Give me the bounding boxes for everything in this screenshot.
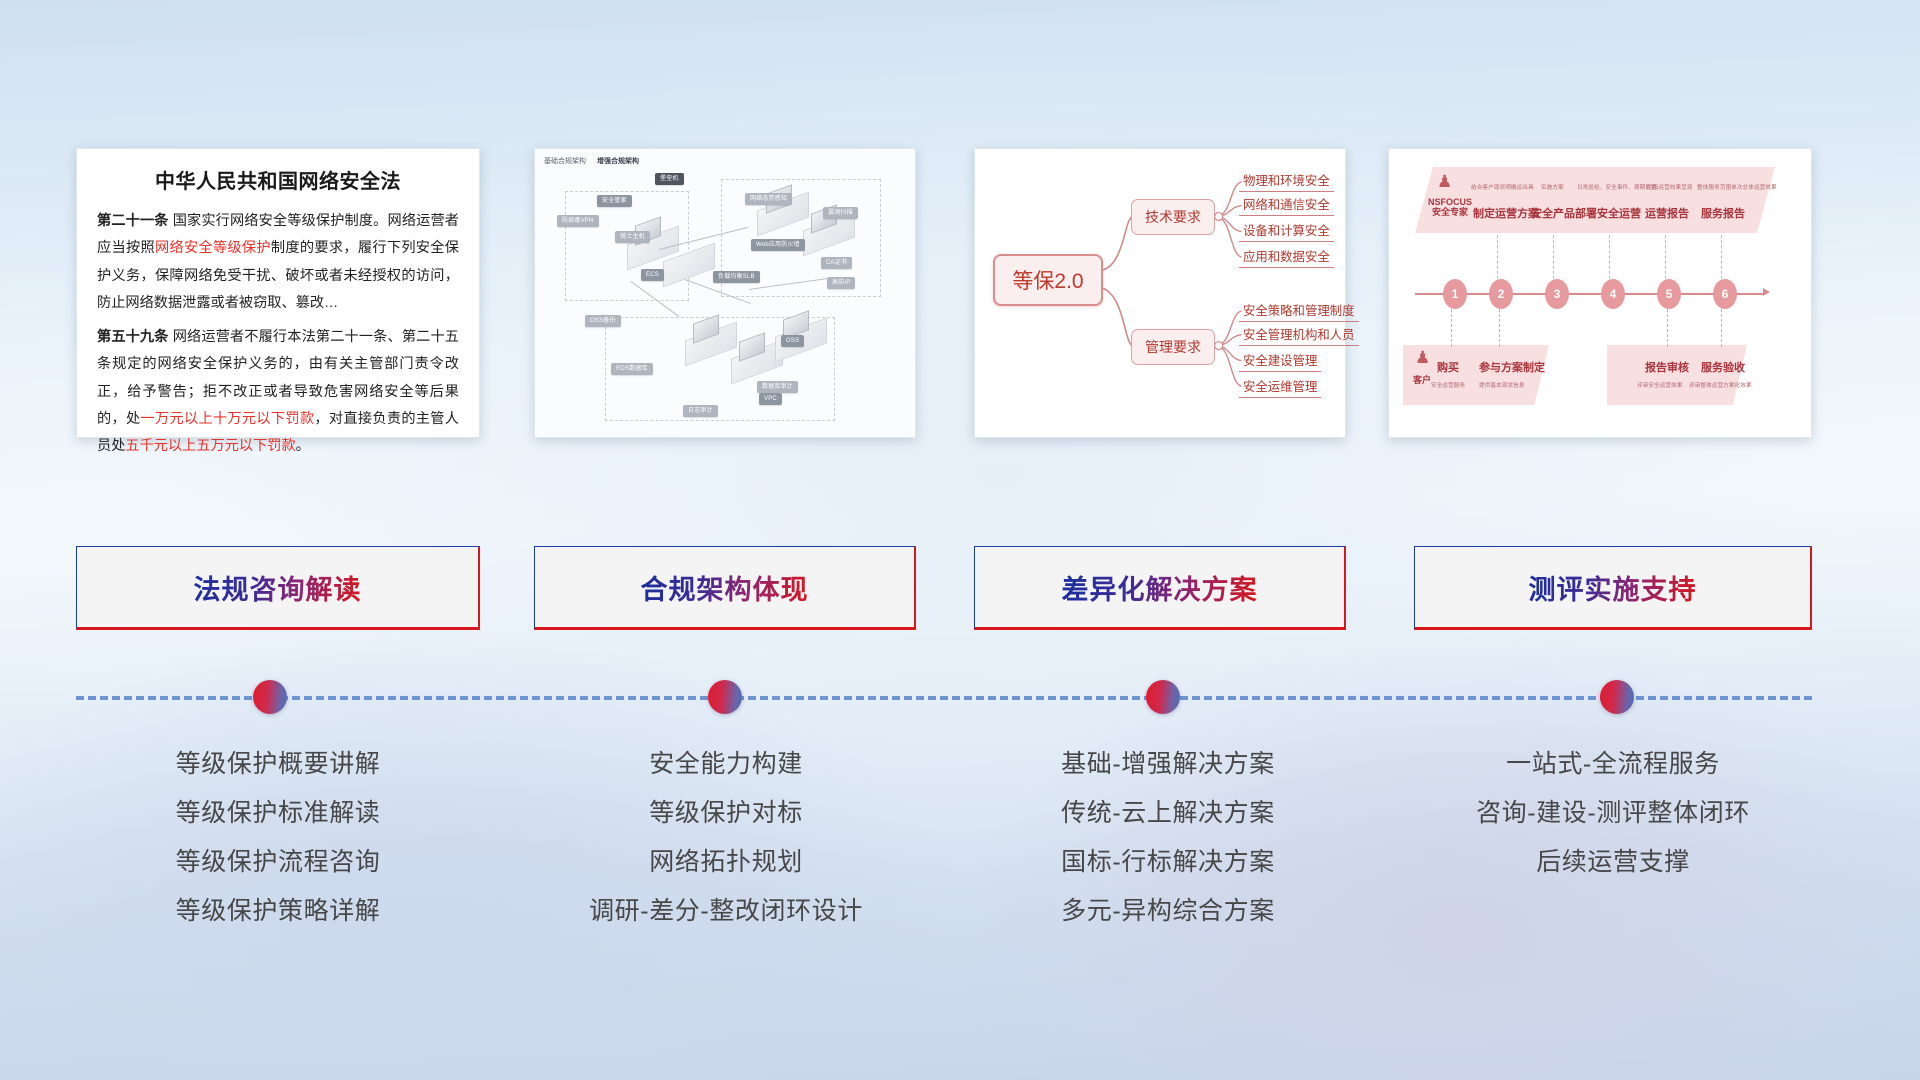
law-article-21: 第二十一条 国家实行网络安全等级保护制度。网络运营者应当按照网络安全等级保护制度… [97,208,459,317]
list-item: 国标-行标解决方案 [966,838,1370,887]
article-59-label: 第五十九条 [97,329,169,345]
mindmap-leaf-tech-2: 设备和计算安全 [1239,221,1334,242]
section-title-2: 合规架构体现 [641,568,809,607]
arch-chip-6: 数据库审计 [757,381,798,393]
mindmap-leaf-tech-3: 应用和数据安全 [1239,247,1334,268]
roadmap-top-sub-4: 整体服务范围单次总体运营效果 [1697,183,1777,191]
roadmap-top-sub-1: 实施方案 [1541,183,1564,191]
law-article-59: 第五十九条 网络运营者不履行本法第二十一条、第二十五条规定的网络安全保护义务的，… [97,324,459,460]
list-item: 等级保护流程咨询 [76,838,480,887]
article-21-label: 第二十一条 [97,213,169,229]
roadmap-axis-arrow-icon [1763,288,1770,296]
section-title-box-4[interactable]: 测评实施支持 [1414,546,1812,630]
arch-chip-10: CA证书 [821,257,852,269]
detail-list-1: 等级保护概要讲解 等级保护标准解读 等级保护流程咨询 等级保护策略详解 [76,740,480,936]
list-item: 咨询-建设-测评整体闭环 [1406,789,1820,838]
roadmap-stem-4 [1609,235,1610,279]
mindmap-leaf-tech-1: 网络和通信安全 [1239,195,1334,216]
list-item: 后续运营支撑 [1406,838,1820,887]
detail-list-4: 一站式-全流程服务 咨询-建设-测评整体闭环 后续运营支撑 [1406,740,1820,887]
roadmap-bottom-label-2: 报告审核 [1645,359,1689,375]
arch-tab-enhanced: 增强合规架构 [597,156,639,166]
timeline-dot-3[interactable] [1146,680,1180,714]
mindmap-leaf-tech-0: 物理和环境安全 [1239,171,1334,192]
mindmap-leaf-mgmt-3: 安全运维管理 [1239,377,1321,398]
card-cybersecurity-law[interactable]: 中华人民共和国网络安全法 第二十一条 国家实行网络安全等级保护制度。网络运营者应… [76,148,480,438]
arch-chip-4: 防病毒VPN [557,215,599,227]
list-item: 调研-差分-整改闭环设计 [524,887,928,936]
timeline-dot-4[interactable] [1600,680,1634,714]
list-item: 等级保护概要讲解 [76,740,480,789]
section-detail-lists: 等级保护概要讲解 等级保护标准解读 等级保护流程咨询 等级保护策略详解 安全能力… [0,740,1920,970]
detail-list-2: 安全能力构建 等级保护对标 网络拓扑规划 调研-差分-整改闭环设计 [524,740,928,936]
roadmap-bottom-sub-0: 安全运营服务 [1431,381,1465,389]
list-item: 基础-增强解决方案 [966,740,1370,789]
roadmap-top-label-0: 制定运营方案 [1473,205,1539,221]
article-59-highlight-b: 五千元以上五万元以下罚款 [125,438,295,454]
roadmap-canvas: ♟ NSFOCUS 安全专家 ♟ 客户 1 2 3 4 5 6 结合客户现状明确… [1389,149,1811,437]
timeline-dashed-line [76,696,1812,700]
mindmap-root-node[interactable]: 等保2.0 [993,254,1103,306]
section-title-box-3[interactable]: 差异化解决方案 [974,546,1346,630]
arch-chip-12: OSS备份 [585,315,621,327]
roadmap-stem-b1 [1451,309,1452,347]
roadmap-band-bottom-right [1607,345,1747,405]
section-title-4: 测评实施支持 [1529,568,1697,607]
list-item: 安全能力构建 [524,740,928,789]
roadmap-step-3[interactable]: 3 [1545,279,1569,309]
law-title: 中华人民共和国网络安全法 [97,165,459,194]
architecture-canvas: 基础合规架构 增强合规架构 堡垒机 安全管家 网络态势感知 漏洞扫描 防病毒VP… [535,149,915,437]
timeline-dot-2[interactable] [708,680,742,714]
section-title-box-2[interactable]: 合规架构体现 [534,546,916,630]
roadmap-step-2[interactable]: 2 [1489,279,1513,309]
arch-chip-11: 高防IP [827,277,855,289]
roadmap-bottom-label-0: 购买 [1437,359,1459,375]
arch-chip-2: 网络态势感知 [745,193,792,205]
arch-tab-basic: 基础合规架构 [544,156,586,166]
arch-chip-1: 安全管家 [597,195,632,207]
roadmap-step-4[interactable]: 4 [1601,279,1625,309]
arch-chip-7: Web应用防火墙 [751,239,805,251]
mindmap-branch-technical[interactable]: 技术要求 [1131,199,1215,235]
roadmap-top-label-4: 服务报告 [1701,205,1745,221]
mindmap-branch-management[interactable]: 管理要求 [1131,329,1215,365]
roadmap-step-5[interactable]: 5 [1657,279,1681,309]
list-item: 多元-异构综合方案 [966,887,1370,936]
roadmap-stem-b4 [1721,309,1722,347]
arch-chip-13: RDS数据库 [611,363,653,375]
article-21-highlight: 网络安全等级保护 [155,240,271,256]
expert-person-icon: ♟ [1437,173,1452,190]
roadmap-stem-2 [1497,235,1498,279]
article-59-highlight-a: 一万元以上十万元以下罚款 [140,411,314,427]
arch-chip-9: 负载均衡SLB [713,271,760,283]
mindmap-leaf-mgmt-1: 安全管理机构和人员 [1239,325,1359,346]
roadmap-step-6[interactable]: 6 [1713,279,1737,309]
roadmap-stem-b3 [1667,309,1668,347]
list-item: 等级保护标准解读 [76,789,480,838]
arch-chip-3: 漏洞扫描 [823,207,858,219]
roadmap-top-sub-2: 日常巡检、安全事件、周期处置 [1577,183,1657,191]
roadmap-stem-6 [1721,235,1722,279]
list-item: 等级保护对标 [524,789,928,838]
timeline-dot-1[interactable] [253,680,287,714]
roadmap-top-sub-3: 阶段运营效果呈现 [1647,183,1693,191]
roadmap-top-label-3: 运营报告 [1645,205,1689,221]
customer-person-icon: ♟ [1415,349,1430,366]
arch-chip-16: 日志审计 [683,405,718,417]
arch-chip-15: VPC [759,393,782,405]
roadmap-bottom-label-1: 参与方案制定 [1479,359,1545,375]
roadmap-bottom-label-3: 服务验收 [1701,359,1745,375]
list-item: 一站式-全流程服务 [1406,740,1820,789]
section-title-box-1[interactable]: 法规咨询解读 [76,546,480,630]
roadmap-top-sub-0: 结合客户现状明确运出具 [1471,183,1534,191]
section-title-3: 差异化解决方案 [1062,568,1258,607]
reference-card-row: 中华人民共和国网络安全法 第二十一条 国家实行网络安全等级保护制度。网络运营者应… [0,148,1920,438]
list-item: 等级保护策略详解 [76,887,480,936]
arch-chip-14: OSS [781,335,804,347]
roadmap-bottom-sub-1: 提供基本现状信息 [1479,381,1525,389]
card-mindmap-dengbao[interactable]: 等保2.0 技术要求 管理要求 物理和环境安全 网络和通信安全 设备和计算安全 … [974,148,1346,438]
card-architecture-diagram[interactable]: 基础合规架构 增强合规架构 堡垒机 安全管家 网络态势感知 漏洞扫描 防病毒VP… [534,148,916,438]
arch-chip-5: 骑士主机 [615,231,650,243]
roadmap-step-1[interactable]: 1 [1443,279,1467,309]
arch-chip-8: ECS [641,269,664,281]
section-title-1: 法规咨询解读 [194,568,362,607]
card-service-roadmap[interactable]: ♟ NSFOCUS 安全专家 ♟ 客户 1 2 3 4 5 6 结合客户现状明确… [1388,148,1812,438]
roadmap-top-label-2: 安全运营 [1597,205,1641,221]
roadmap-top-label-1: 安全产品部署 [1531,205,1597,221]
mindmap-canvas: 等保2.0 技术要求 管理要求 物理和环境安全 网络和通信安全 设备和计算安全 … [975,149,1345,437]
article-59-text-c: 。 [296,438,310,454]
mindmap-leaf-mgmt-2: 安全建设管理 [1239,351,1321,372]
roadmap-stem-b2 [1499,309,1500,347]
roadmap-stem-3 [1553,235,1554,279]
roadmap-bottom-sub-2: 评审安全运营效果 [1637,381,1683,389]
arch-chip-0: 堡垒机 [655,173,684,185]
list-item: 传统-云上解决方案 [966,789,1370,838]
timeline [0,672,1920,732]
roadmap-bottom-sub-3: 评审整体运营方案化效果 [1689,381,1752,389]
roadmap-stem-5 [1665,235,1666,279]
mindmap-leaf-mgmt-0: 安全策略和管理制度 [1239,301,1359,322]
list-item: 网络拓扑规划 [524,838,928,887]
detail-list-3: 基础-增强解决方案 传统-云上解决方案 国标-行标解决方案 多元-异构综合方案 [966,740,1370,936]
